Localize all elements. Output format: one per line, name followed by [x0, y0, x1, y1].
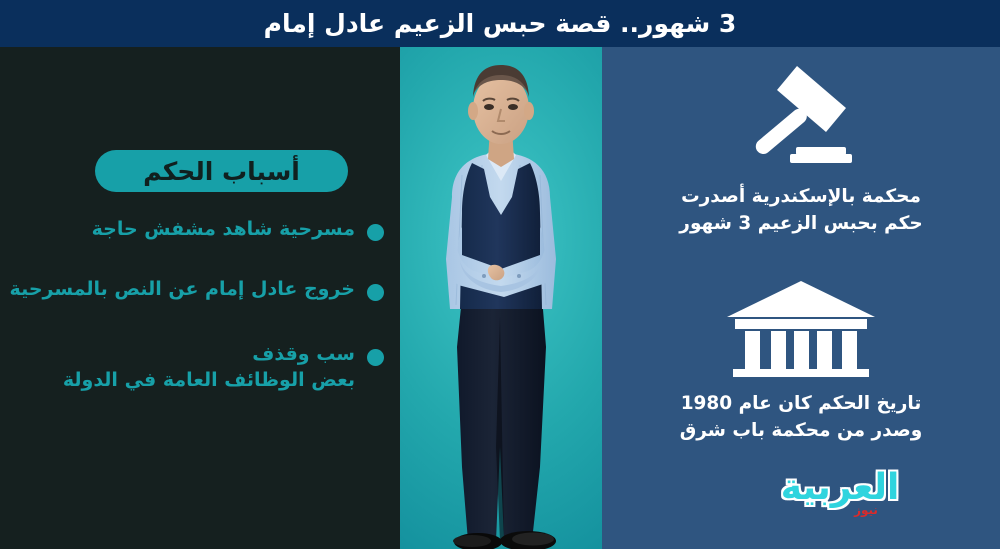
- brand-logo: العربية نيوز: [770, 470, 910, 530]
- portrait-panel: [400, 47, 602, 549]
- bullet-dot-icon: [367, 224, 384, 241]
- title-bar: 3 شهور.. قصة حبس الزعيم عادل إمام: [0, 0, 1000, 47]
- date-line-1: تاريخ الحكم كان عام 1980: [681, 393, 922, 414]
- date-line-2: وصدر من محكمة باب شرق: [602, 418, 1000, 445]
- fact-block-court-caption: محكمة بالإسكندرية أصدرت حكم بحبس الزعيم …: [602, 184, 1000, 238]
- left-panel: أسباب الحكم مسرحية شاهد مشفش حاجة خروج ع…: [0, 47, 400, 549]
- portrait-figure: [400, 47, 602, 549]
- fact-block-date: تاريخ الحكم كان عام 1980 وصدر من محكمة ب…: [602, 279, 1000, 445]
- court-line-1: محكمة بالإسكندرية أصدرت: [681, 186, 921, 207]
- list-item-label: سب وقذف بعض الوظائف العامة في الدولة: [0, 342, 355, 393]
- list-item: خروج عادل إمام عن النص بالمسرحية: [0, 277, 400, 303]
- list-item: سب وقذف بعض الوظائف العامة في الدولة: [0, 342, 400, 393]
- brand-logo-mark: العربية: [770, 470, 910, 506]
- fact-block-date-caption: تاريخ الحكم كان عام 1980 وصدر من محكمة ب…: [602, 391, 1000, 445]
- list-item-label-line1: سب وقذف: [252, 343, 355, 365]
- list-item-label-line2: بعض الوظائف العامة في الدولة: [8, 368, 355, 394]
- courthouse-icon: [602, 279, 1000, 381]
- gavel-icon: [602, 62, 1000, 174]
- fact-block-court: محكمة بالإسكندرية أصدرت حكم بحبس الزعيم …: [602, 62, 1000, 238]
- reasons-section-title: أسباب الحكم: [143, 157, 300, 186]
- reasons-list: مسرحية شاهد مشفش حاجة خروج عادل إمام عن …: [0, 217, 400, 428]
- reasons-section-pill: أسباب الحكم: [95, 150, 348, 192]
- bullet-dot-icon: [367, 284, 384, 301]
- court-line-2: حكم بحبس الزعيم 3 شهور: [602, 211, 1000, 238]
- infographic-canvas: 3 شهور.. قصة حبس الزعيم عادل إمام أسباب …: [0, 0, 1000, 549]
- bullet-dot-icon: [367, 349, 384, 366]
- list-item-label: خروج عادل إمام عن النص بالمسرحية: [0, 277, 355, 303]
- page-title: 3 شهور.. قصة حبس الزعيم عادل إمام: [264, 9, 737, 38]
- list-item: مسرحية شاهد مشفش حاجة: [0, 217, 400, 243]
- list-item-label: مسرحية شاهد مشفش حاجة: [0, 217, 355, 243]
